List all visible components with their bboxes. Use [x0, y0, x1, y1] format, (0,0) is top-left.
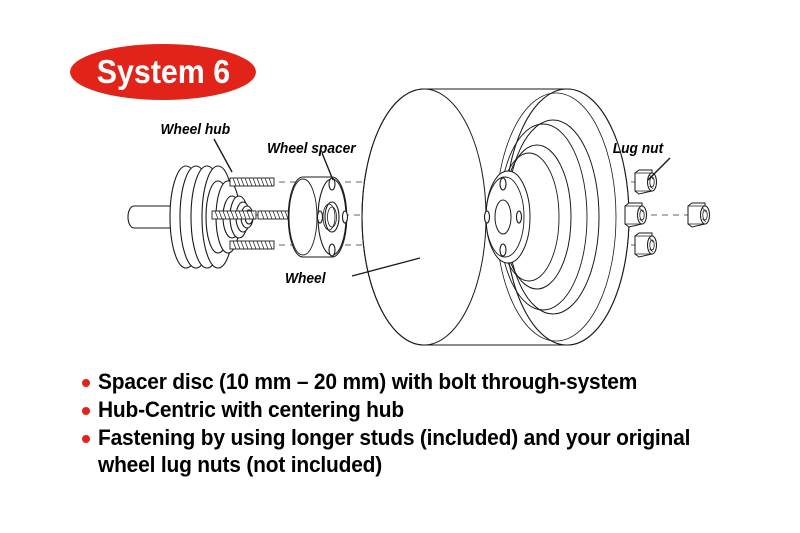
label-wheel-spacer: Wheel spacer — [267, 140, 357, 156]
bullet-dot-icon — [82, 407, 90, 415]
lug-nut-middle-right — [688, 203, 710, 227]
feature-text: Spacer disc (10 mm – 20 mm) with bolt th… — [98, 368, 637, 395]
list-item: Hub-Centric with centering hub — [82, 396, 742, 423]
spacer-hole-right — [343, 211, 348, 223]
lug-nut-top — [635, 170, 657, 194]
label-lug-nut: Lug nut — [613, 140, 665, 156]
diagram-page: System 6 — [0, 0, 800, 533]
bullet-dot-icon — [82, 379, 90, 387]
feature-text: Fastening by using longer studs (include… — [98, 424, 690, 478]
label-wheel-hub: Wheel hub — [161, 121, 231, 137]
leader-lug-nut — [648, 158, 670, 180]
stud-bottom — [230, 241, 274, 249]
spacer-hole-left — [318, 211, 323, 223]
label-wheel: Wheel — [285, 270, 327, 286]
lug-nuts — [625, 170, 710, 257]
lug-nut-middle-left — [625, 203, 647, 227]
feature-list: Spacer disc (10 mm – 20 mm) with bolt th… — [82, 368, 742, 479]
stud-top — [230, 178, 274, 186]
list-item: Spacer disc (10 mm – 20 mm) with bolt th… — [82, 368, 742, 395]
list-item: Fastening by using longer studs (include… — [82, 424, 742, 478]
leader-wheel-spacer — [322, 153, 333, 180]
feature-text: Hub-Centric with centering hub — [98, 396, 404, 423]
spacer-hole-top — [329, 178, 335, 190]
spacer-hole-bottom — [329, 244, 335, 256]
lug-nut-bottom — [635, 233, 657, 257]
wheel-bolt-hole-left — [485, 211, 490, 223]
bullet-dot-icon — [82, 435, 90, 443]
wheel-bolt-hole-bottom — [500, 244, 506, 256]
wheel-bolt-hole-right — [517, 211, 522, 223]
stud-middle-inner — [212, 211, 256, 219]
wheel-spacer-part — [288, 177, 347, 257]
wheel-part — [362, 89, 629, 345]
wheel-bolt-hole-top — [500, 178, 506, 190]
